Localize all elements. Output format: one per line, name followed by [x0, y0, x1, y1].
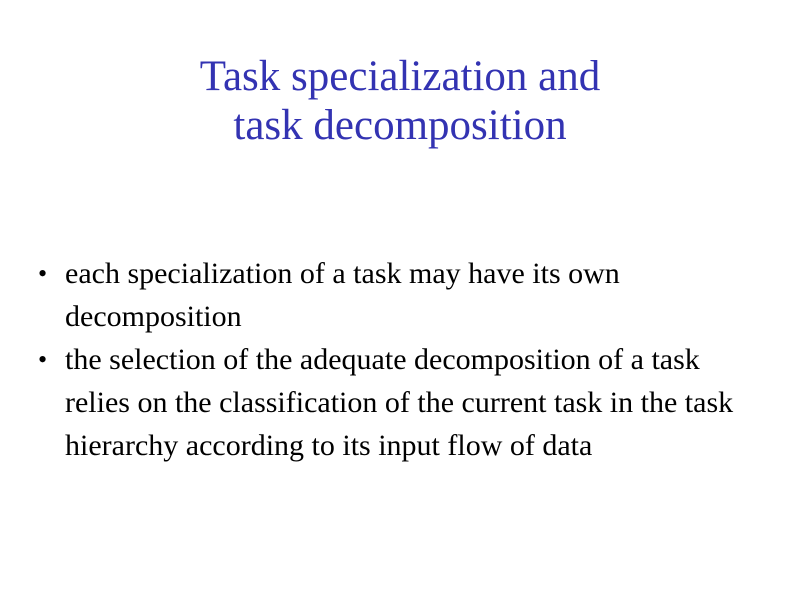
slide-canvas: Task specialization and task decompositi…: [0, 0, 800, 600]
list-item: • each specialization of a task may have…: [30, 252, 770, 338]
bullet-text-2: the selection of the adequate decomposit…: [65, 338, 770, 467]
title-line-1: Task specialization and: [60, 52, 740, 101]
page-title: Task specialization and task decompositi…: [60, 52, 740, 150]
list-item: • the selection of the adequate decompos…: [30, 338, 770, 467]
bullet-list: • each specialization of a task may have…: [30, 252, 770, 467]
bullet-text-1: each specialization of a task may have i…: [65, 252, 770, 338]
title-line-2: task decomposition: [60, 101, 740, 150]
bullet-dot-icon: •: [38, 338, 58, 381]
bullet-dot-icon: •: [38, 252, 58, 295]
